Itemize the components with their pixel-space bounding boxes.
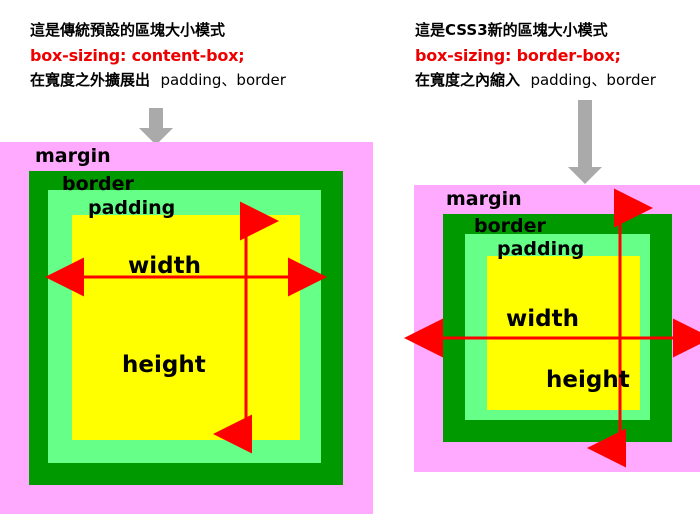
left-caption-line-3-cjk: 在寬度之外擴展出 [30, 71, 150, 89]
down-arrow-gray-icon-left [138, 108, 174, 146]
diagram-canvas: 這是傳統預設的區塊大小模式 box-sizing: content-box; 在… [0, 0, 700, 514]
right-caption-line-3: 在寬度之內縮入 padding、border [415, 68, 656, 93]
left-caption-line-3: 在寬度之外擴展出 padding、border [30, 68, 286, 93]
right-caption-line-1: 這是CSS3新的區塊大小模式 [415, 18, 656, 43]
left-caption-block: 這是傳統預設的區塊大小模式 box-sizing: content-box; 在… [30, 18, 286, 93]
right-caption-block: 這是CSS3新的區塊大小模式 box-sizing: border-box; 在… [415, 18, 656, 93]
right-caption-code: box-sizing: border-box; [415, 43, 656, 68]
height-label-left: height [122, 354, 206, 377]
border-label-right: border [474, 217, 546, 236]
left-caption-code: box-sizing: content-box; [30, 43, 286, 68]
width-label-left: width [128, 255, 201, 278]
padding-label-left: padding [88, 199, 175, 218]
content-layer-left [72, 215, 300, 440]
right-caption-line-3-cjk: 在寬度之內縮入 [415, 71, 520, 89]
right-caption-line-3-ascii: padding、border [530, 71, 655, 89]
border-label-left: border [62, 175, 134, 194]
padding-label-right: padding [497, 240, 584, 259]
down-arrow-gray-icon-right [567, 100, 603, 185]
left-caption-line-3-ascii: padding、border [160, 71, 285, 89]
border-box-diagram: margin border padding width height [414, 185, 700, 472]
margin-label-left: margin [35, 147, 111, 166]
height-label-right: height [546, 369, 630, 392]
left-caption-line-1: 這是傳統預設的區塊大小模式 [30, 18, 286, 43]
margin-label-right: margin [446, 190, 522, 209]
width-label-right: width [506, 308, 579, 331]
content-box-diagram: margin border padding width height [0, 142, 373, 514]
